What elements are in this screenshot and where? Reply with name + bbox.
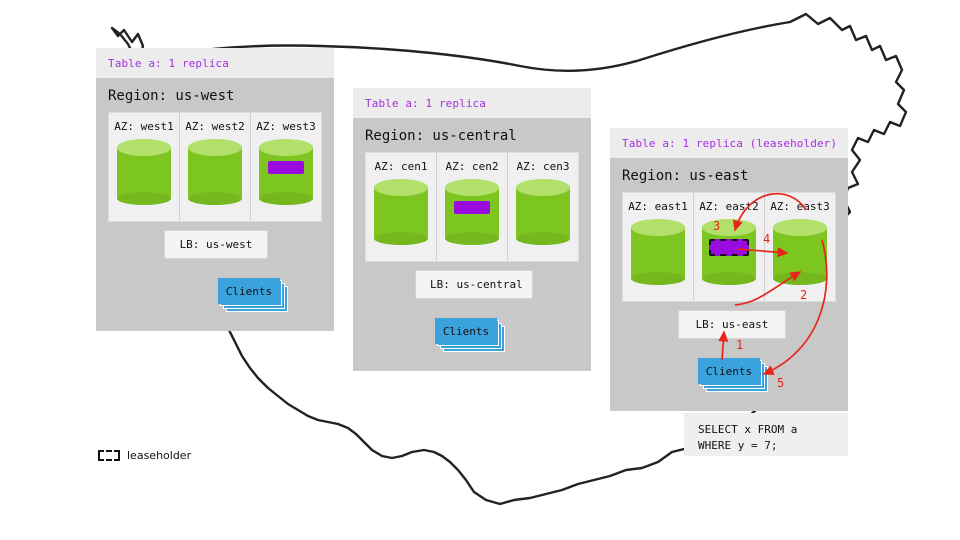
az-label: AZ: cen1	[366, 160, 436, 173]
az-label: AZ: west2	[180, 120, 250, 133]
node-cylinder-east3[interactable]	[773, 219, 827, 291]
region-panel-us-east: Table a: 1 replica (leaseholder) Region:…	[610, 128, 848, 411]
clients-button[interactable]: Clients	[698, 358, 760, 384]
clients-us-east[interactable]: Clients	[698, 358, 760, 384]
cylinder-shade	[259, 192, 313, 205]
clients-label: Clients	[226, 285, 272, 298]
node-cylinder-west1[interactable]	[117, 139, 171, 211]
node-cylinder-east2[interactable]	[702, 219, 756, 291]
az-cell-cen1[interactable]: AZ: cen1	[366, 153, 437, 261]
clients-us-central[interactable]: Clients	[435, 318, 497, 344]
table-replica-label: Table a: 1 replica	[365, 97, 486, 110]
panel-header-us-east: Table a: 1 replica (leaseholder)	[610, 128, 848, 158]
replica-marker-west3	[268, 161, 304, 174]
table-replica-label: Table a: 1 replica	[108, 57, 229, 70]
region-title-us-central: Region: us-central	[353, 118, 591, 152]
cylinder-top	[773, 219, 827, 236]
az-row-us-west: AZ: west1 AZ: west2 AZ: west3	[108, 112, 322, 222]
clients-label: Clients	[706, 365, 752, 378]
panel-header-us-west: Table a: 1 replica	[96, 48, 334, 78]
az-cell-east1[interactable]: AZ: east1	[623, 193, 694, 301]
az-cell-west3[interactable]: AZ: west3	[251, 113, 321, 221]
az-cell-cen2[interactable]: AZ: cen2	[437, 153, 508, 261]
region-title-us-west: Region: us-west	[96, 78, 334, 112]
az-label: AZ: cen2	[437, 160, 507, 173]
step-number-1: 1	[736, 338, 743, 352]
cylinder-top	[117, 139, 171, 156]
step-number-3: 3	[713, 219, 720, 233]
diagram-canvas: Table a: 1 replica Region: us-west AZ: w…	[0, 0, 960, 540]
replica-marker-cen2	[454, 201, 490, 214]
load-balancer-us-east[interactable]: LB: us-east	[678, 310, 786, 339]
az-cell-cen3[interactable]: AZ: cen3	[508, 153, 578, 261]
cylinder-top	[702, 219, 756, 236]
clients-button[interactable]: Clients	[218, 278, 280, 304]
node-cylinder-east1[interactable]	[631, 219, 685, 291]
panel-header-us-central: Table a: 1 replica	[353, 88, 591, 118]
step-number-4: 4	[763, 232, 770, 246]
az-row-us-central: AZ: cen1 AZ: cen2 AZ: cen3	[365, 152, 579, 262]
az-cell-east2[interactable]: AZ: east2	[694, 193, 765, 301]
node-cylinder-cen1[interactable]	[374, 179, 428, 251]
replica-marker-east2-leaseholder	[709, 239, 749, 256]
cylinder-shade	[702, 272, 756, 285]
cylinder-top	[374, 179, 428, 196]
cylinder-top	[188, 139, 242, 156]
cylinder-shade	[773, 272, 827, 285]
cylinder-top	[631, 219, 685, 236]
node-cylinder-cen3[interactable]	[516, 179, 570, 251]
node-cylinder-cen2[interactable]	[445, 179, 499, 251]
cylinder-top	[259, 139, 313, 156]
cylinder-shade	[188, 192, 242, 205]
legend-label: leaseholder	[127, 449, 191, 462]
table-replica-label: Table a: 1 replica (leaseholder)	[622, 137, 837, 150]
legend-leaseholder: leaseholder	[98, 449, 191, 462]
cylinder-shade	[516, 232, 570, 245]
region-panel-us-west: Table a: 1 replica Region: us-west AZ: w…	[96, 48, 334, 331]
cylinder-top	[445, 179, 499, 196]
load-balancer-us-west[interactable]: LB: us-west	[164, 230, 268, 259]
az-label: AZ: east1	[623, 200, 693, 213]
cylinder-shade	[374, 232, 428, 245]
clients-label: Clients	[443, 325, 489, 338]
step-number-2: 2	[800, 288, 807, 302]
cylinder-shade	[117, 192, 171, 205]
region-title-us-east: Region: us-east	[610, 158, 848, 192]
cylinder-top	[516, 179, 570, 196]
az-label: AZ: east2	[694, 200, 764, 213]
region-panel-us-central: Table a: 1 replica Region: us-central AZ…	[353, 88, 591, 371]
az-row-us-east: AZ: east1 AZ: east2 AZ: east3	[622, 192, 836, 302]
az-label: AZ: west3	[251, 120, 321, 133]
cylinder-shade	[631, 272, 685, 285]
az-cell-west2[interactable]: AZ: west2	[180, 113, 251, 221]
node-cylinder-west3[interactable]	[259, 139, 313, 211]
node-cylinder-west2[interactable]	[188, 139, 242, 211]
cylinder-shade	[445, 232, 499, 245]
az-cell-west1[interactable]: AZ: west1	[109, 113, 180, 221]
clients-us-west[interactable]: Clients	[218, 278, 280, 304]
az-label: AZ: west1	[109, 120, 179, 133]
az-label: AZ: cen3	[508, 160, 578, 173]
sql-query-box: SELECT x FROM a WHERE y = 7;	[684, 413, 848, 456]
az-cell-east3[interactable]: AZ: east3	[765, 193, 835, 301]
load-balancer-us-central[interactable]: LB: us-central	[415, 270, 533, 299]
clients-button[interactable]: Clients	[435, 318, 497, 344]
leaseholder-swatch-icon	[98, 450, 120, 461]
step-number-5: 5	[777, 376, 784, 390]
az-label: AZ: east3	[765, 200, 835, 213]
